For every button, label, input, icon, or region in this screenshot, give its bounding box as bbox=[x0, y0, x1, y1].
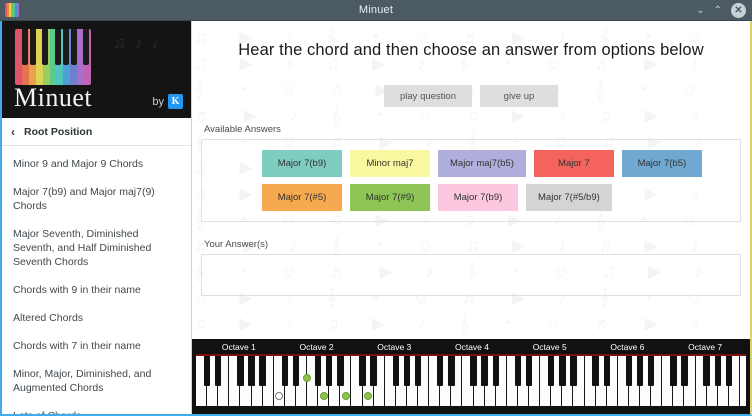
logo-panel: ♫ ♪ ♩ Minuet by K bbox=[2, 21, 191, 118]
black-key-6-3[interactable] bbox=[703, 356, 709, 386]
black-key-3-1[interactable] bbox=[448, 356, 454, 386]
main-content: ♫ ▶ ♪ 𝄞 ◔ ☺ ♬ ▶ ♪ 𝄞 ◔ ☺ ♫ ▶ ♪ ♫ ▶ ♪ 𝄞 ◔ … bbox=[192, 21, 750, 414]
breadcrumb-label: Root Position bbox=[24, 126, 92, 138]
sidebar-item-5[interactable]: Chords with 7 in their name bbox=[2, 332, 191, 360]
exercise-controls: play question give up bbox=[192, 85, 750, 107]
black-key-6-4[interactable] bbox=[715, 356, 721, 386]
answer-chip-1-3[interactable]: Major 7(#5/b9) bbox=[526, 184, 612, 211]
answer-chip-1-1[interactable]: Major 7(#9) bbox=[350, 184, 430, 211]
answer-row-1: Major 7(#5)Major 7(#9)Major 7(b9)Major 7… bbox=[202, 184, 740, 211]
logo-black-key bbox=[71, 29, 77, 65]
answer-chip-0-4[interactable]: Major 7(b5) bbox=[622, 150, 702, 177]
answer-chip-1-2[interactable]: Major 7(b9) bbox=[438, 184, 518, 211]
black-key-5-0[interactable] bbox=[592, 356, 598, 386]
black-key-1-0[interactable] bbox=[282, 356, 288, 386]
window-title: Minuet bbox=[0, 4, 752, 16]
black-key-6-0[interactable] bbox=[670, 356, 676, 386]
black-key-3-5[interactable] bbox=[493, 356, 499, 386]
octave-label-3: Octave 3 bbox=[377, 342, 411, 352]
sidebar-item-6[interactable]: Minor, Major, Diminished, and Augmented … bbox=[2, 360, 191, 402]
your-answers-panel[interactable] bbox=[201, 254, 741, 296]
title-bar: Minuet ⌄ ⌃ ✕ bbox=[0, 0, 752, 21]
minimize-icon[interactable]: ⌄ bbox=[696, 6, 704, 16]
logo-black-key bbox=[83, 29, 89, 65]
sidebar: ♫ ♪ ♩ Minuet by K ‹ Root Position Minor … bbox=[2, 21, 192, 414]
by-kde-credit: by K bbox=[152, 94, 183, 109]
black-key-5-4[interactable] bbox=[637, 356, 643, 386]
black-key-2-3[interactable] bbox=[393, 356, 399, 386]
logo-black-key bbox=[22, 29, 28, 65]
root-marker-0 bbox=[275, 392, 283, 400]
sidebar-item-1[interactable]: Major 7(b9) and Major maj7(9) Chords bbox=[2, 178, 191, 220]
sidebar-list[interactable]: Minor 9 and Major 9 ChordsMajor 7(b9) an… bbox=[2, 146, 191, 414]
window-body: ♫ ♪ ♩ Minuet by K ‹ Root Position Minor … bbox=[0, 21, 752, 416]
black-key-4-1[interactable] bbox=[526, 356, 532, 386]
black-key-4-5[interactable] bbox=[570, 356, 576, 386]
piano-keyboard[interactable]: Octave 1Octave 2Octave 3Octave 4Octave 5… bbox=[192, 339, 750, 414]
octave-label-5: Octave 5 bbox=[533, 342, 567, 352]
maximize-icon[interactable]: ⌃ bbox=[714, 6, 722, 16]
black-key-3-3[interactable] bbox=[470, 356, 476, 386]
by-label: by bbox=[152, 96, 164, 108]
black-key-5-5[interactable] bbox=[648, 356, 654, 386]
answer-chip-1-0[interactable]: Major 7(#5) bbox=[262, 184, 342, 211]
your-answers-label: Your Answer(s) bbox=[204, 239, 750, 250]
piano-logo-black-keys bbox=[15, 29, 91, 65]
music-decoration-icon: ♫ ♪ ♩ bbox=[113, 35, 177, 51]
window-controls: ⌄ ⌃ ✕ bbox=[696, 0, 746, 21]
octave-label-1: Octave 1 bbox=[222, 342, 256, 352]
black-key-1-5[interactable] bbox=[337, 356, 343, 386]
black-key-2-0[interactable] bbox=[359, 356, 365, 386]
sidebar-item-3[interactable]: Chords with 9 in their name bbox=[2, 276, 191, 304]
octave-label-7: Octave 7 bbox=[688, 342, 722, 352]
note-marker-4 bbox=[364, 392, 372, 400]
back-chevron-icon[interactable]: ‹ bbox=[11, 125, 15, 139]
answer-chip-0-2[interactable]: Major maj7(b5) bbox=[438, 150, 526, 177]
octave-label-6: Octave 6 bbox=[610, 342, 644, 352]
black-key-0-0[interactable] bbox=[204, 356, 210, 386]
note-marker-1 bbox=[303, 374, 311, 382]
black-key-2-1[interactable] bbox=[370, 356, 376, 386]
black-key-4-0[interactable] bbox=[515, 356, 521, 386]
black-key-6-1[interactable] bbox=[681, 356, 687, 386]
answer-chip-0-3[interactable]: Major 7 bbox=[534, 150, 614, 177]
black-key-2-4[interactable] bbox=[404, 356, 410, 386]
logo-black-key bbox=[30, 29, 36, 65]
breadcrumb[interactable]: ‹ Root Position bbox=[2, 118, 191, 146]
sidebar-item-7[interactable]: Lots of Chords bbox=[2, 402, 191, 414]
note-marker-3 bbox=[342, 392, 350, 400]
available-answers-label: Available Answers bbox=[204, 124, 750, 135]
black-key-0-3[interactable] bbox=[237, 356, 243, 386]
sidebar-item-2[interactable]: Major Seventh, Diminished Seventh, and H… bbox=[2, 220, 191, 276]
octave-label-2: Octave 2 bbox=[300, 342, 334, 352]
give-up-button[interactable]: give up bbox=[480, 85, 558, 107]
logo-black-key bbox=[42, 29, 48, 65]
black-key-4-4[interactable] bbox=[559, 356, 565, 386]
note-marker-2 bbox=[320, 392, 328, 400]
close-icon[interactable]: ✕ bbox=[731, 3, 746, 18]
black-key-0-5[interactable] bbox=[259, 356, 265, 386]
play-question-button[interactable]: play question bbox=[384, 85, 472, 107]
black-key-0-4[interactable] bbox=[248, 356, 254, 386]
black-key-4-3[interactable] bbox=[548, 356, 554, 386]
black-key-0-1[interactable] bbox=[215, 356, 221, 386]
black-key-2-5[interactable] bbox=[415, 356, 421, 386]
black-key-3-0[interactable] bbox=[437, 356, 443, 386]
answer-chip-0-0[interactable]: Major 7(b9) bbox=[262, 150, 342, 177]
answer-chip-0-1[interactable]: Minor maj7 bbox=[350, 150, 430, 177]
black-key-5-3[interactable] bbox=[626, 356, 632, 386]
page-title: Hear the chord and then choose an answer… bbox=[192, 21, 750, 60]
answer-row-0: Major 7(b9)Minor maj7Major maj7(b5)Major… bbox=[202, 150, 740, 177]
app-wordmark: Minuet bbox=[14, 83, 92, 113]
octave-label-row: Octave 1Octave 2Octave 3Octave 4Octave 5… bbox=[196, 342, 746, 354]
black-key-5-1[interactable] bbox=[604, 356, 610, 386]
sidebar-item-0[interactable]: Minor 9 and Major 9 Chords bbox=[2, 150, 191, 178]
black-key-1-3[interactable] bbox=[315, 356, 321, 386]
black-key-3-4[interactable] bbox=[481, 356, 487, 386]
black-key-6-5[interactable] bbox=[726, 356, 732, 386]
black-key-1-4[interactable] bbox=[326, 356, 332, 386]
key-bed[interactable] bbox=[196, 356, 746, 406]
available-answers-panel: Major 7(b9)Minor maj7Major maj7(b5)Major… bbox=[201, 139, 741, 222]
octave-label-4: Octave 4 bbox=[455, 342, 489, 352]
logo-black-key bbox=[63, 29, 69, 65]
application-window: Minuet ⌄ ⌃ ✕ ♫ ♪ ♩ Minuet by K ‹ Root Po bbox=[0, 0, 752, 416]
black-key-1-1[interactable] bbox=[293, 356, 299, 386]
logo-black-key bbox=[55, 29, 61, 65]
sidebar-item-4[interactable]: Altered Chords bbox=[2, 304, 191, 332]
kde-logo-icon: K bbox=[168, 94, 183, 109]
